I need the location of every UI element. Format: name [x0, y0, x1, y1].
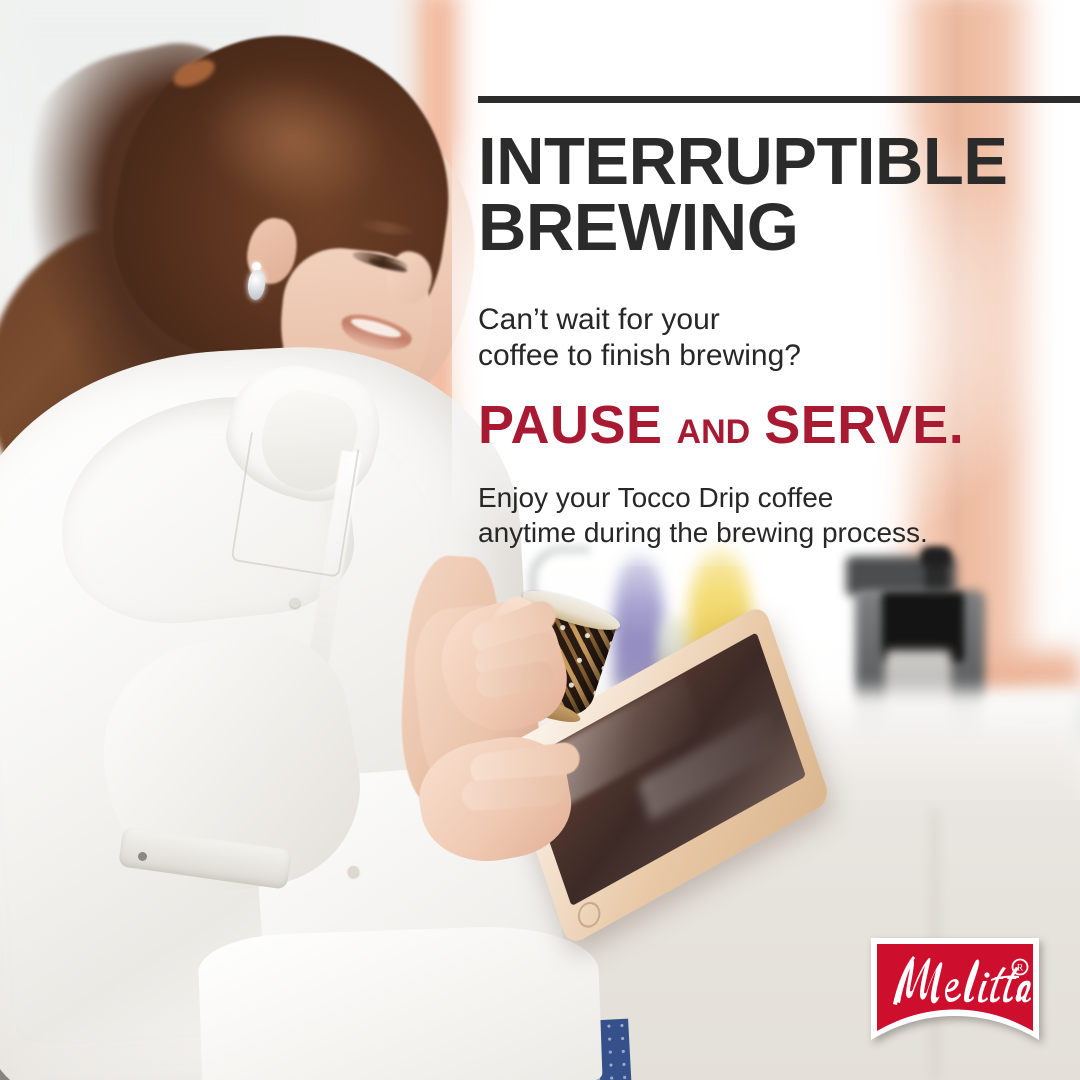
shirt-cuff-button: [138, 852, 147, 861]
tagline: PAUSEANDSERVE.: [478, 398, 1080, 452]
body-line-2: anytime during the brewing process.: [478, 515, 1080, 551]
registered-mark-glyph: R: [1017, 964, 1024, 974]
tagline-word-1: PAUSE: [478, 395, 663, 455]
subheadline-line-1: Can’t wait for your: [478, 302, 1080, 338]
tagline-connector: AND: [677, 413, 751, 451]
subheadline-line-2: coffee to finish brewing?: [478, 338, 1080, 374]
headline-line-2: BREWING: [478, 195, 1080, 261]
advertisement-canvas: INTERRUPTIBLE BREWING Can’t wait for you…: [0, 0, 1080, 1080]
page-title: INTERRUPTIBLE BREWING: [478, 129, 1080, 262]
body-line-1: Enjoy your Tocco Drip coffee: [478, 480, 1080, 516]
headline-line-1: INTERRUPTIBLE: [478, 124, 1008, 199]
shirt-pocket: [231, 432, 360, 578]
subheadline: Can’t wait for your coffee to finish bre…: [478, 302, 1080, 374]
melitta-logo: R: [869, 936, 1041, 1042]
copy-block: INTERRUPTIBLE BREWING Can’t wait for you…: [478, 96, 1080, 551]
shirt-button-1: [290, 598, 300, 608]
shirt-hem: [197, 923, 602, 1080]
tagline-word-2: SERVE.: [764, 395, 964, 455]
shirt-button-3: [348, 866, 359, 877]
headline-rule: [478, 96, 1080, 103]
body-copy: Enjoy your Tocco Drip coffee anytime dur…: [478, 480, 1080, 552]
